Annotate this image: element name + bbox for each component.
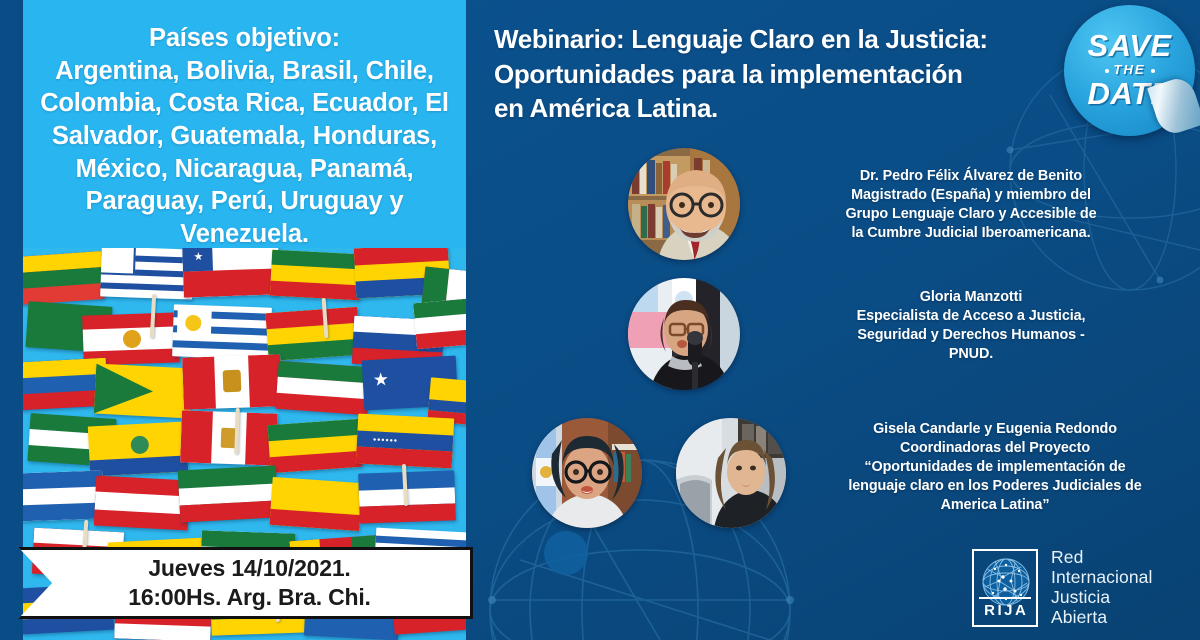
badge-line-save: SAVE	[1087, 31, 1171, 61]
speaker-1-role-2: Grupo Lenguaje Claro y Accesible de	[752, 205, 1190, 224]
rija-word-4: Abierta	[1051, 608, 1153, 628]
speaker-2-role-2: Seguridad y Derechos Humanos -	[752, 326, 1190, 345]
ribbon-time-line: 16:00Hs. Arg. Bra. Chi.	[128, 583, 371, 612]
network-globe-icon	[981, 557, 1031, 607]
save-the-date-badge: SAVE THE DATE	[1064, 5, 1195, 136]
ribbon-date-line: Jueves 14/10/2021.	[128, 554, 371, 583]
left-dark-rail	[0, 0, 23, 640]
rija-word-1: Red	[1051, 548, 1153, 568]
headline-line-2: Oportunidades para la implementación	[494, 57, 1054, 92]
speaker-3-photo-a	[532, 418, 642, 528]
speaker-1-photo	[628, 148, 740, 260]
speaker-3-info: Gisela Candarle y Eugenia Redondo Coordi…	[796, 420, 1194, 515]
speaker-1-role-1: Magistrado (España) y miembro del	[752, 186, 1190, 205]
speaker-1-name: Dr. Pedro Félix Álvarez de Benito	[752, 167, 1190, 186]
rija-acronym: RIJA	[974, 602, 1036, 619]
speaker-2-role-3: PNUD.	[752, 345, 1190, 364]
page-title: Webinario: Lenguaje Claro en la Justicia…	[494, 22, 1054, 126]
speaker-3-role-2: “Oportunidades de implementación de	[796, 458, 1194, 477]
rija-word-3: Justicia	[1051, 588, 1153, 608]
speaker-3-name: Gisela Candarle y Eugenia Redondo	[796, 420, 1194, 439]
target-countries-title: Países objetivo:	[37, 22, 452, 55]
webinar-poster: Países objetivo: Argentina, Bolivia, Bra…	[0, 0, 1200, 640]
rija-divider	[979, 597, 1031, 599]
left-panel: Países objetivo: Argentina, Bolivia, Bra…	[23, 0, 466, 640]
speaker-2-role-1: Especialista de Acceso a Justicia,	[752, 307, 1190, 326]
rija-wordmark: Red Internacional Justicia Abierta	[1051, 548, 1153, 628]
date-ribbon: Jueves 14/10/2021. 16:00Hs. Arg. Bra. Ch…	[18, 547, 473, 619]
headline-line-1: Webinario: Lenguaje Claro en la Justicia…	[494, 22, 1054, 57]
speaker-1-info: Dr. Pedro Félix Álvarez de Benito Magist…	[752, 167, 1190, 243]
speaker-3-photo-b	[676, 418, 786, 528]
speaker-3-role-1: Coordinadoras del Proyecto	[796, 439, 1194, 458]
speaker-2-name: Gloria Manzotti	[752, 288, 1190, 307]
target-countries-list: Argentina, Bolivia, Brasil, Chile, Colom…	[37, 55, 452, 251]
rija-word-2: Internacional	[1051, 568, 1153, 588]
speaker-2-photo	[628, 278, 740, 390]
rija-logo: RIJA Red Internacional Justicia Abierta	[972, 548, 1153, 628]
badge-line-the: THE	[1114, 64, 1146, 76]
speaker-3-role-4: America Latina”	[796, 496, 1194, 515]
badge-dot-right	[1151, 69, 1155, 73]
speaker-3-role-3: lenguaje claro en los Poderes Judiciales…	[796, 477, 1194, 496]
speaker-1-role-3: la Cumbre Judicial Iberoamericana.	[752, 224, 1190, 243]
target-countries-block: Países objetivo: Argentina, Bolivia, Bra…	[23, 22, 466, 250]
speaker-2-info: Gloria Manzotti Especialista de Acceso a…	[752, 288, 1190, 364]
badge-dot-left	[1105, 69, 1109, 73]
rija-logo-mark: RIJA	[972, 549, 1038, 627]
headline-line-3: en América Latina.	[494, 91, 1054, 126]
